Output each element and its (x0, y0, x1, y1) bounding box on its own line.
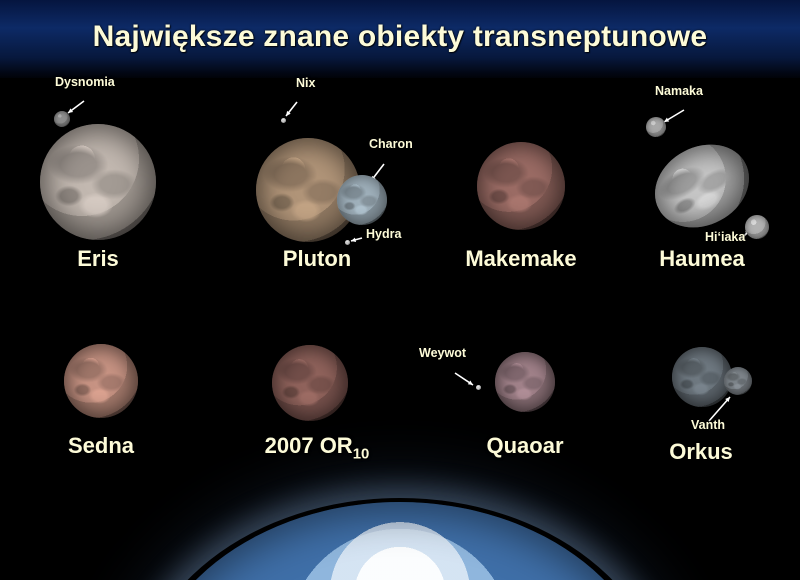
moon-weywot (476, 385, 481, 390)
moon-hiiaka (745, 215, 769, 239)
moon-hydra (345, 240, 350, 245)
label-moon-dysnomia: Dysnomia (55, 75, 115, 89)
label-moon-nix: Nix (296, 76, 315, 90)
label-haumea: Haumea (302, 246, 800, 272)
label-moon-charon: Charon (369, 137, 413, 151)
moon-nix (281, 118, 286, 123)
slide-canvas: Największe znane obiekty transneptunowe … (0, 0, 800, 580)
planet-quaoar (495, 352, 555, 412)
moon-dysnomia (54, 111, 70, 127)
planet-sedna (64, 344, 138, 418)
planet-eris (40, 124, 156, 240)
label-moon-weywot: Weywot (419, 346, 466, 360)
moon-vanth (724, 367, 752, 395)
moon-charon (337, 175, 387, 225)
label-moon-vanth: Vanth (308, 418, 800, 432)
label-moon-hiiaka: Hi‘iaka (705, 230, 745, 244)
planet-makemake (477, 142, 565, 230)
planet-orkus (672, 347, 732, 407)
label-orkus: Orkus (301, 439, 800, 465)
label-moon-hydra: Hydra (366, 227, 401, 241)
label-moon-namaka: Namaka (655, 84, 703, 98)
planet-2007or10 (272, 345, 348, 421)
moon-namaka (646, 117, 666, 137)
